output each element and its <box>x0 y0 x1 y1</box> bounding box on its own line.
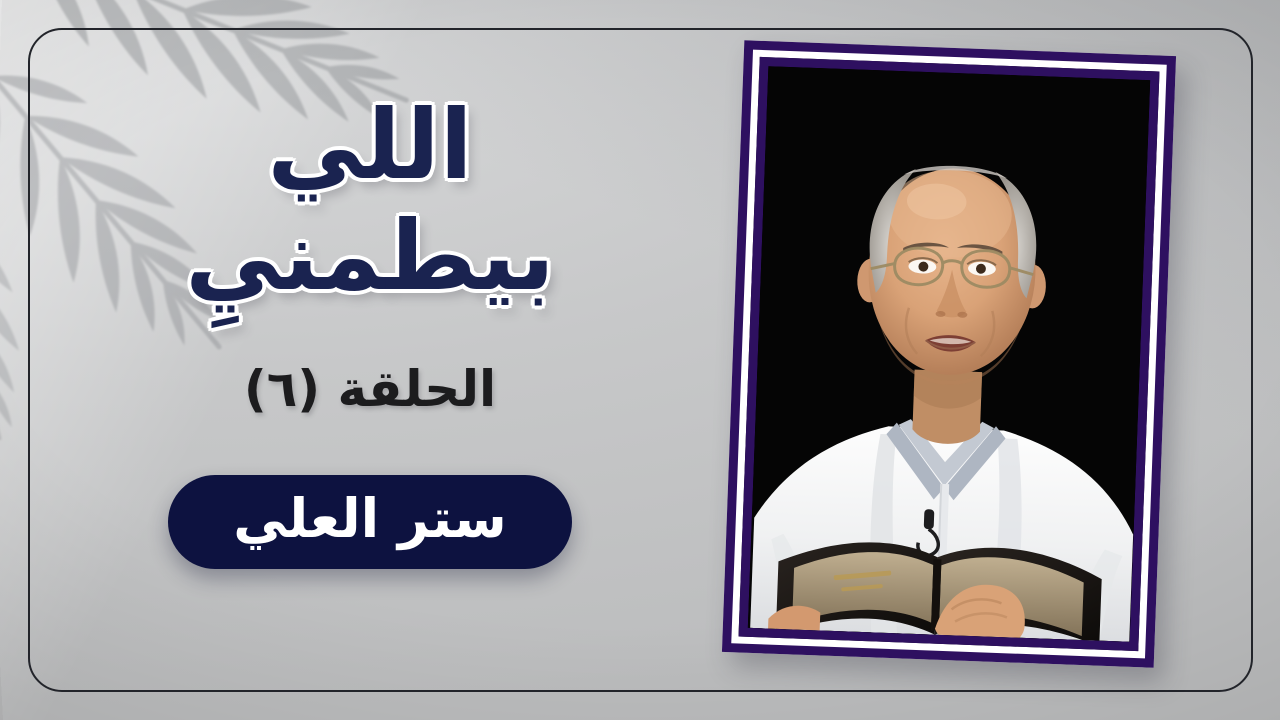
portrait-photo-frame <box>722 40 1176 667</box>
page-title: اللي بيطمنيِ <box>70 90 670 313</box>
text-column: اللي بيطمنيِ الحلقة (٦) ستر العلي <box>70 90 670 569</box>
speaker-name-badge: ستر العلي <box>168 475 572 570</box>
episode-label: الحلقة (٦) <box>70 359 670 419</box>
speaker-portrait-image <box>748 66 1150 642</box>
frame-inner-border <box>739 57 1160 651</box>
title-card-canvas: اللي بيطمنيِ الحلقة (٦) ستر العلي <box>0 0 1280 720</box>
